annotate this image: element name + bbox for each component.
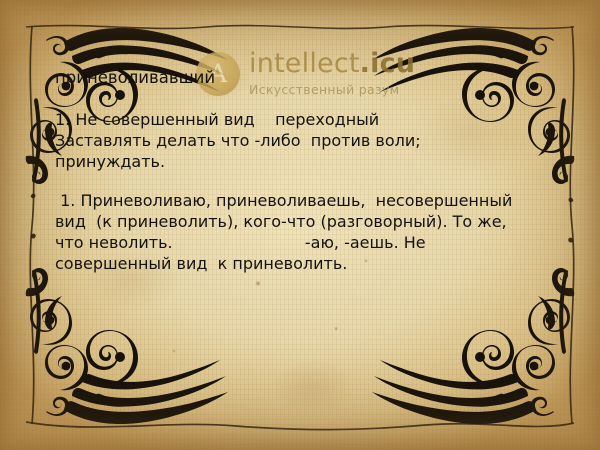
border-rule-top <box>26 22 574 32</box>
definition-paragraph-1: 1. Не совершенный вид переходный Заставл… <box>55 109 560 172</box>
parchment-card: A intellect.icu Искусственный разум прин… <box>0 0 600 450</box>
headword: приневоливавший <box>55 68 560 89</box>
border-rule-left <box>26 26 38 424</box>
ornament-corner-bottom-right-icon <box>368 268 598 448</box>
border-rule-right <box>566 26 578 424</box>
border-rule-bottom <box>26 418 574 432</box>
definition-paragraph-2: 1. Приневоливаю, приневоливаешь, несовер… <box>55 190 560 274</box>
dictionary-entry: приневоливавший 1. Не совершенный вид пе… <box>55 68 560 274</box>
ornament-corner-bottom-left-icon <box>2 268 232 448</box>
